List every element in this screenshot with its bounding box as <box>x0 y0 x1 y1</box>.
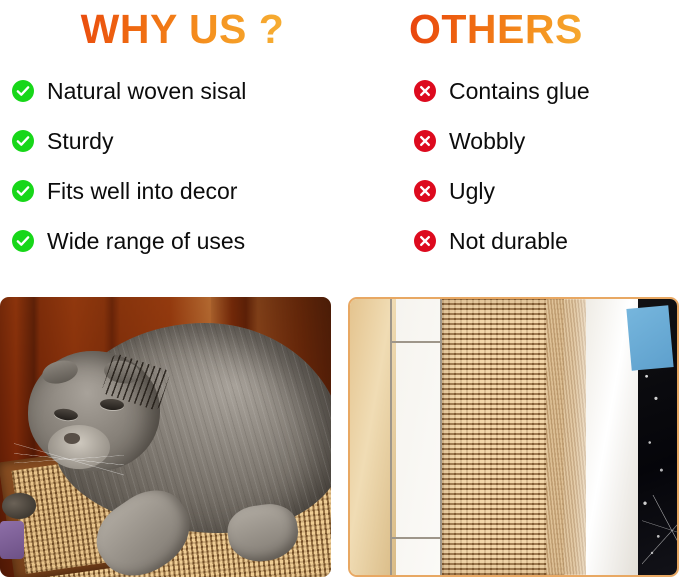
comparison-lists: Natural woven sisal Sturdy Fits well int… <box>0 66 679 291</box>
cat-eye-left <box>53 407 78 421</box>
pros-column: Natural woven sisal Sturdy Fits well int… <box>12 66 342 266</box>
list-item: Not durable <box>414 216 669 266</box>
list-item: Ugly <box>414 166 669 216</box>
list-item: Wobbly <box>414 116 669 166</box>
list-item-label: Fits well into decor <box>47 178 237 204</box>
others-title: OTHERS <box>409 2 614 56</box>
check-circle-icon <box>12 80 34 102</box>
list-item-label: Wide range of uses <box>47 228 245 254</box>
list-item-label: Natural woven sisal <box>47 78 246 104</box>
cat-on-sisal-scratcher-photo <box>0 297 331 577</box>
list-item-label: Wobbly <box>449 128 525 154</box>
right-photo-canvas <box>350 299 677 575</box>
list-item-label: Contains glue <box>449 78 590 104</box>
check-circle-icon <box>12 180 34 202</box>
scratch-marks <box>642 495 677 565</box>
comparison-headings: WHY US ? OTHERS <box>0 0 679 66</box>
left-photo-canvas <box>0 297 331 577</box>
purple-toy <box>0 521 24 559</box>
cat-whiskers <box>14 437 124 481</box>
list-item: Natural woven sisal <box>12 66 342 116</box>
frayed-sisal-mat-photo <box>348 297 679 577</box>
x-circle-icon <box>414 180 436 202</box>
list-item: Sturdy <box>12 116 342 166</box>
why-us-title: WHY US ? <box>60 2 305 56</box>
x-circle-icon <box>414 230 436 252</box>
list-item-label: Not durable <box>449 228 568 254</box>
x-circle-icon <box>414 80 436 102</box>
blue-tape <box>626 305 673 370</box>
panel-line-horizontal-top <box>390 341 442 343</box>
toy-mouse <box>2 493 36 519</box>
x-circle-icon <box>414 130 436 152</box>
cons-column: Contains glue Wobbly Ugly <box>414 66 669 266</box>
door-panel-lines <box>384 299 446 575</box>
list-item-label: Ugly <box>449 178 495 204</box>
list-item: Fits well into decor <box>12 166 342 216</box>
list-item-label: Sturdy <box>47 128 113 154</box>
comparison-photos <box>0 297 679 577</box>
cat-eye-right <box>100 398 125 411</box>
check-circle-icon <box>12 130 34 152</box>
list-item: Wide range of uses <box>12 216 342 266</box>
check-circle-icon <box>12 230 34 252</box>
list-item: Contains glue <box>414 66 669 116</box>
panel-line-horizontal-bottom <box>390 537 442 539</box>
